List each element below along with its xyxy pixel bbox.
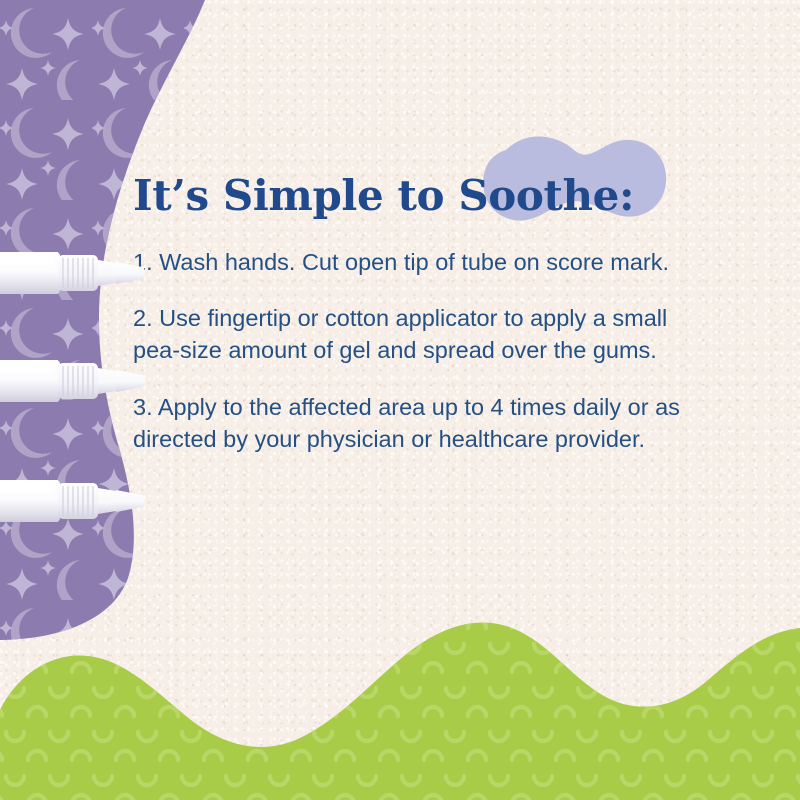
- instruction-step-2: 2. Use fingertip or cotton applicator to…: [133, 302, 681, 366]
- instruction-step-3: 3. Apply to the affected area up to 4 ti…: [133, 391, 681, 455]
- instruction-step-1: 1. Wash hands. Cut open tip of tube on s…: [133, 246, 681, 278]
- gel-tube: [0, 242, 146, 309]
- instructions-list: 1. Wash hands. Cut open tip of tube on s…: [133, 246, 681, 455]
- gel-tube: [0, 470, 146, 537]
- page-title: It’s Simple to Soothe:: [133, 174, 713, 219]
- gel-tube: [0, 350, 146, 417]
